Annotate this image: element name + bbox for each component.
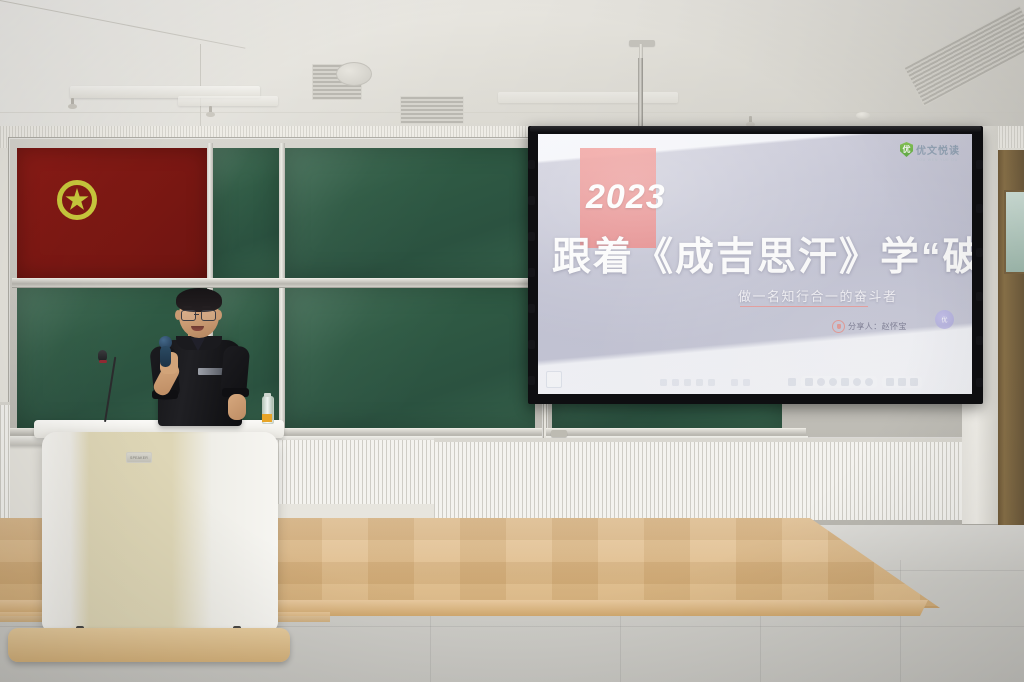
shape-icon[interactable] [696, 379, 703, 386]
screen-clip [528, 160, 535, 169]
door-window-panel [1004, 190, 1024, 274]
brand-name: 优文悦读 [916, 142, 960, 157]
ceiling-shading [0, 0, 1024, 128]
ceiling-air-vent [400, 96, 464, 124]
person-hair [176, 288, 222, 312]
shirt-logo [198, 368, 224, 375]
sprinkler-head [206, 106, 215, 118]
screen-clip [976, 204, 983, 213]
person-eyebrow [183, 306, 192, 308]
view-controls-group[interactable] [882, 376, 922, 388]
brand-shield-icon: 优 [900, 142, 913, 157]
brand-mark-glyph: 优 [903, 146, 911, 154]
projected-slide-area[interactable]: 优 优文悦读 YOU WEN YUE DU 2023 跟着《成吉思汗》学“破局”… [538, 134, 972, 394]
screen-clip [528, 268, 535, 277]
podium[interactable]: SPEAKER [28, 420, 288, 660]
slide-brand-logo: 优 优文悦读 [900, 142, 960, 157]
slide-watermark: 优 [935, 310, 954, 329]
blackboard-eraser [551, 430, 567, 437]
screen-clip [976, 336, 983, 345]
media-controls-group[interactable] [801, 376, 877, 388]
screen-clip [528, 196, 535, 205]
microphone-indicator-ring [99, 360, 107, 363]
person-forearm [228, 394, 246, 420]
podium-nameplate-text: SPEAKER [130, 456, 148, 460]
cursor-icon[interactable] [660, 379, 667, 386]
screen-clip [528, 376, 535, 385]
glasses-bridge [194, 314, 199, 315]
ceiling-speaker [336, 62, 372, 86]
screen-top-roller [530, 126, 981, 132]
screen-clip [976, 160, 983, 169]
slide-toolbar-groups[interactable] [788, 376, 922, 388]
brand-tagline: YOU WEN YUE DU [916, 158, 958, 162]
screen-clip [976, 248, 983, 257]
screen-clip [528, 340, 535, 349]
thumbnail-panel-icon[interactable] [546, 371, 562, 388]
handheld-microphone [160, 346, 171, 367]
slide-title: 跟着《成吉思汗》学“破局” [552, 226, 972, 282]
wainscot-panel [806, 442, 982, 524]
screen-clip [976, 292, 983, 301]
pen-icon[interactable] [672, 379, 679, 386]
refresh-icon[interactable] [853, 378, 861, 386]
next-icon[interactable] [829, 378, 837, 386]
slide-subtitle: 做一名知行合一的奋斗者 [738, 286, 898, 305]
glasses-right-lens [201, 310, 216, 321]
glasses-left-lens [181, 310, 196, 321]
volume-icon[interactable] [865, 378, 873, 386]
sprinkler-head [68, 98, 77, 110]
highlighter-icon[interactable] [684, 379, 691, 386]
ceiling-light-fixture [178, 96, 278, 106]
subtitle-underline [740, 306, 868, 307]
slide-presenter: 分享人：赵怀宝 [832, 320, 907, 333]
prev-icon[interactable] [805, 378, 813, 386]
lock-icon[interactable] [731, 379, 738, 386]
close-icon[interactable] [910, 378, 918, 386]
smoke-detector [856, 112, 870, 119]
eraser-icon[interactable] [708, 379, 715, 386]
projection-screen[interactable]: 优 优文悦读 YOU WEN YUE DU 2023 跟着《成吉思汗》学“破局”… [528, 126, 983, 404]
podium-nameplate: SPEAKER [126, 452, 152, 463]
ceiling-light-fixture [498, 92, 678, 103]
blackboard-panel [285, 288, 535, 428]
record-icon[interactable] [817, 378, 825, 386]
blackboard-panel [285, 148, 535, 278]
presenter-person [146, 286, 276, 436]
screen-clip [528, 304, 535, 313]
grid-icon[interactable] [743, 379, 750, 386]
communist-youth-league-flag [17, 148, 209, 278]
blackboard-panel [213, 148, 279, 278]
fullscreen-icon[interactable] [886, 378, 894, 386]
person-ear [216, 310, 222, 320]
play-icon[interactable] [788, 378, 796, 386]
minimize-icon[interactable] [898, 378, 906, 386]
ceiling-seam [0, 112, 1024, 113]
slide-toolbar[interactable] [660, 379, 750, 386]
classroom-scene: 优 优文悦读 YOU WEN YUE DU 2023 跟着《成吉思汗》学“破局”… [0, 0, 1024, 682]
wainscot-panel [0, 405, 10, 525]
screen-clip [976, 378, 983, 387]
collar-v-notch [191, 338, 205, 351]
floor-grout-line [900, 560, 901, 682]
podium-base-plinth [8, 628, 290, 662]
wainscot-panel [434, 442, 806, 522]
slide-year: 2023 [586, 178, 666, 217]
stop-icon[interactable] [841, 378, 849, 386]
presenter-badge-icon [832, 320, 845, 333]
screen-clip [528, 232, 535, 241]
person-eyebrow [202, 306, 211, 308]
presenter-name: 分享人：赵怀宝 [848, 321, 907, 332]
podium-body [42, 432, 278, 632]
